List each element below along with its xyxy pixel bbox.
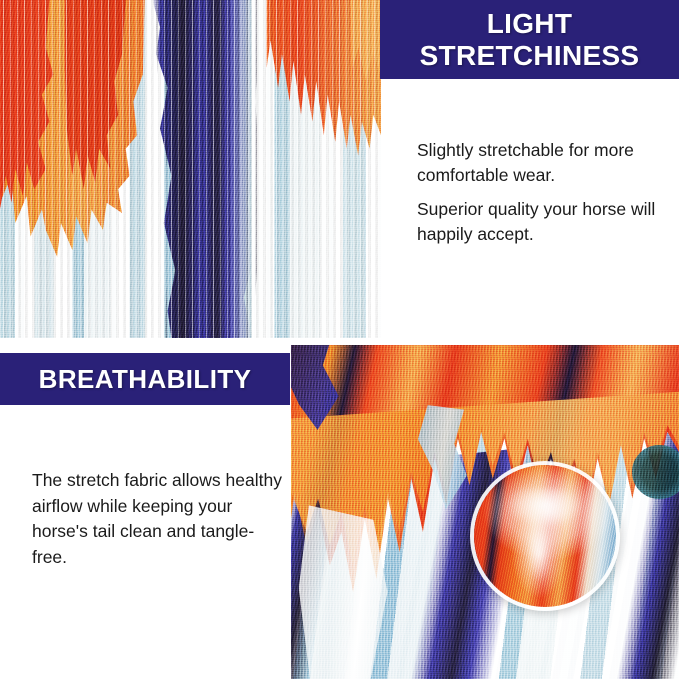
fabric-dark-eye-right bbox=[632, 445, 679, 498]
magnifier-weave-texture bbox=[474, 465, 616, 607]
fabric-closeup-image-top bbox=[0, 0, 381, 338]
top-paragraph-1: Slightly stretchable for more comfortabl… bbox=[417, 138, 667, 188]
banner-breathability-label: BREATHABILITY bbox=[39, 364, 252, 395]
banner-breathability: BREATHABILITY bbox=[0, 353, 290, 405]
banner-light-stretchiness: LIGHT STRETCHINESS bbox=[380, 0, 679, 79]
banner-light-stretchiness-label: LIGHT STRETCHINESS bbox=[414, 8, 646, 72]
banner-line-2: STRETCHINESS bbox=[420, 40, 640, 71]
top-description-text: Slightly stretchable for more comfortabl… bbox=[417, 138, 667, 247]
fabric-jagged-fade bbox=[0, 0, 381, 338]
magnifier-circle bbox=[470, 461, 620, 611]
top-paragraph-2: Superior quality your horse will happily… bbox=[417, 197, 667, 247]
bottom-paragraph-1: The stretch fabric allows healthy airflo… bbox=[32, 468, 284, 570]
product-feature-infographic: LIGHT STRETCHINESS Slightly stretchable … bbox=[0, 0, 679, 679]
bottom-description-text: The stretch fabric allows healthy airflo… bbox=[32, 468, 284, 570]
banner-line-1: LIGHT bbox=[487, 8, 573, 39]
